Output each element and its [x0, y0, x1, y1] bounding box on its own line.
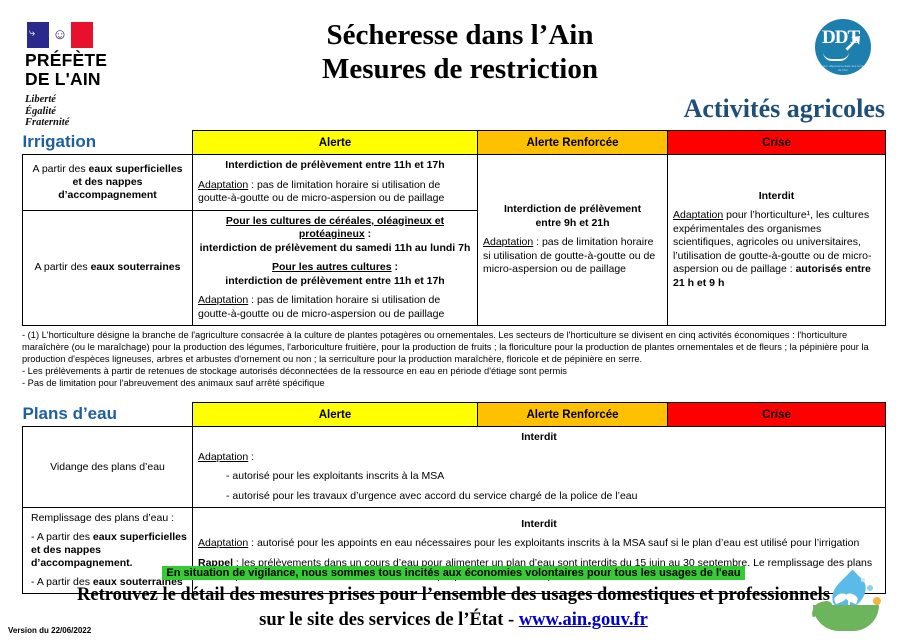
level-header-crise: Crise: [668, 403, 886, 427]
row-label-bold: eaux souterraines: [91, 261, 181, 273]
footnote-1: - (1) L'horticulture désigne la branche …: [22, 329, 885, 365]
alerte-sub1: Pour les cultures de céréales, oléagineu…: [198, 215, 472, 256]
irrigation-table: Irrigation Alerte Alerte Renforcée Crise…: [22, 130, 886, 326]
footer-call-line1: Retrouvez le détail des mesures prises p…: [0, 583, 907, 608]
remplissage-heading: Interdit: [198, 518, 880, 532]
page-subtitle: Activités agricoles: [684, 94, 885, 124]
irrigation-header-row: Irrigation Alerte Alerte Renforcée Crise: [23, 131, 886, 155]
table-row: Vidange des plans d’eau Interdit Adaptat…: [23, 427, 886, 508]
adaptation-label: Adaptation: [198, 451, 248, 463]
row-label-prefix: A partir des: [35, 261, 91, 273]
page-title: Sécheresse dans l’Ain Mesures de restric…: [180, 18, 740, 86]
alerte-heading-bold: Interdiction: [225, 159, 282, 171]
motto-egalite: Égalité: [25, 106, 145, 118]
page-header: ⤷ ☺ PRÉFÈTE DE L'AIN Liberté Égalité Fra…: [0, 0, 907, 130]
irrigation-footnotes: - (1) L'horticulture désigne la branche …: [0, 326, 907, 389]
adaptation-text: :: [248, 451, 254, 463]
cell-vidange-all-levels: Interdit Adaptation : - autorisé pour le…: [193, 427, 886, 508]
bubble-orange-icon: [873, 597, 881, 605]
sub1-detail: interdiction de prélèvement du samedi 11…: [200, 242, 471, 254]
sub2-colon: :: [392, 261, 398, 273]
prefecture-name-line2: DE L'AIN: [25, 70, 145, 89]
alerte-heading: Interdiction de prélèvement entre 11h et…: [198, 159, 472, 173]
vidange-bullet-1: - autorisé pour les exploitants inscrits…: [198, 470, 880, 484]
ain-gouv-link[interactable]: www.ain.gouv.fr: [519, 610, 648, 630]
cell-alerte-souterraines: Pour les cultures de céréales, oléagineu…: [193, 210, 478, 326]
irrigation-section: Irrigation Alerte Alerte Renforcée Crise…: [0, 130, 907, 326]
footer-call-to-action: Retrouvez le détail des mesures prises p…: [0, 583, 907, 633]
footer-call-prefix: sur le site des services de l’État -: [259, 610, 519, 630]
sub1-colon: :: [365, 228, 371, 240]
sub2-title: Pour les autres cultures: [272, 261, 392, 273]
adaptation-label: Adaptation: [198, 179, 248, 191]
level-header-alerte-renforcee: Alerte Renforcée: [478, 131, 668, 155]
crise-adaptation: Adaptation pour l’horticulture¹, les cul…: [673, 209, 880, 290]
marianne-face-icon: ☺: [50, 25, 70, 44]
row-label-eaux-superficielles: A partir des eaux superficielles et des …: [23, 155, 193, 211]
sub1-title: Pour les cultures de céréales, oléagineu…: [226, 215, 444, 241]
green-banner: En situation de vigilance, nous sommes t…: [0, 563, 907, 581]
alerte-heading-rest: de prélèvement entre 11h et 17h: [282, 159, 444, 171]
remplissage-adaptation: Adaptation : autorisé pour les appoints …: [198, 537, 880, 551]
green-banner-text: En situation de vigilance, nous sommes t…: [162, 566, 744, 580]
republic-motto: Liberté Égalité Fraternité: [25, 94, 145, 129]
renf-heading-rest: de prélèvement: [561, 203, 641, 215]
footnote-2: - Les prélèvements à partir de retenues …: [22, 365, 885, 377]
page-footer: En situation de vigilance, nous sommes t…: [0, 563, 907, 643]
footnote-3: - Pas de limitation pour l'abreuvement d…: [22, 377, 885, 389]
adaptation-label: Adaptation: [673, 209, 723, 221]
renf-adaptation: Adaptation : pas de limitation horaire s…: [483, 236, 662, 277]
level-header-alerte: Alerte: [193, 403, 478, 427]
motto-liberte: Liberté: [25, 94, 145, 106]
ddt-logo: DDT ➚ Direction départementale des terri…: [815, 19, 871, 75]
motto-fraternite: Fraternité: [25, 117, 145, 129]
renf-heading-bold: Interdiction: [504, 203, 561, 215]
bubble-small-icon: [861, 578, 865, 582]
prefecture-marianne-logo: ⤷ ☺ PRÉFÈTE DE L'AIN Liberté Égalité Fra…: [25, 22, 145, 129]
cell-crise-irrigation: Interdit Adaptation pour l’horticulture¹…: [668, 155, 886, 326]
label-prefix: - A partir des: [31, 531, 93, 543]
crise-heading: Interdit: [673, 190, 880, 204]
cell-alerte-renforcee-irrigation: Interdiction de prélèvement entre 9h et …: [478, 155, 668, 326]
adaptation-label: Adaptation: [198, 294, 248, 306]
adaptation-label: Adaptation: [483, 236, 533, 248]
section-title-irrigation: Irrigation: [23, 131, 193, 155]
ddt-logo-caption: Direction départementale des territoires…: [815, 64, 871, 72]
hand-palm-icon: [813, 605, 879, 631]
alerte-sub2: Pour les autres cultures : interdiction …: [198, 261, 472, 288]
footer-call-line2: sur le site des services de l’État - www…: [0, 608, 907, 633]
cell-alerte-superficielles: Interdiction de prélèvement entre 11h et…: [193, 155, 478, 211]
row-label-prefix: A partir des: [33, 163, 89, 175]
hand-water-drop-logo: [811, 573, 891, 637]
level-header-alerte: Alerte: [193, 131, 478, 155]
bubble-blue-icon: [867, 585, 873, 591]
french-flag-icon: ⤷ ☺: [27, 22, 93, 48]
level-header-alerte-renforcee: Alerte Renforcée: [478, 403, 668, 427]
vidange-heading: Interdit: [198, 431, 880, 445]
row-label-eaux-souterraines: A partir des eaux souterraines: [23, 210, 193, 326]
remplissage-label-line1: Remplissage des plans d’eau :: [31, 512, 187, 525]
sub2-detail: interdiction de prélèvement entre 11h et…: [225, 275, 444, 287]
plans-eau-header-row: Plans d’eau Alerte Alerte Renforcée Cris…: [23, 403, 886, 427]
vidange-bullet-2: - autorisé pour les travaux d’urgence av…: [198, 490, 880, 504]
level-header-crise: Crise: [668, 131, 886, 155]
wave-icon: [823, 52, 849, 61]
renf-heading-line2: entre 9h et 21h: [535, 217, 609, 229]
adaptation-label: Adaptation: [198, 537, 248, 549]
marianne-swirl-icon: ⤷: [29, 27, 35, 40]
document-version: Version du 22/06/2022: [8, 626, 91, 635]
adaptation-text: : autorisé pour les appoints en eau néce…: [248, 537, 859, 549]
alerte-adaptation: Adaptation : pas de limitation horaire s…: [198, 179, 472, 206]
section-title-plans-eau: Plans d’eau: [23, 403, 193, 427]
table-row: A partir des eaux superficielles et des …: [23, 155, 886, 211]
vidange-adaptation: Adaptation :: [198, 451, 880, 465]
prefecture-name-line1: PRÉFÈTE: [25, 51, 145, 70]
alerte-adaptation: Adaptation : pas de limitation horaire s…: [198, 294, 472, 321]
page-title-line2: Mesures de restriction: [180, 52, 740, 86]
renf-heading: Interdiction de prélèvement entre 9h et …: [483, 203, 662, 230]
page-title-line1: Sécheresse dans l’Ain: [180, 18, 740, 52]
row-label-vidange: Vidange des plans d’eau: [23, 427, 193, 508]
